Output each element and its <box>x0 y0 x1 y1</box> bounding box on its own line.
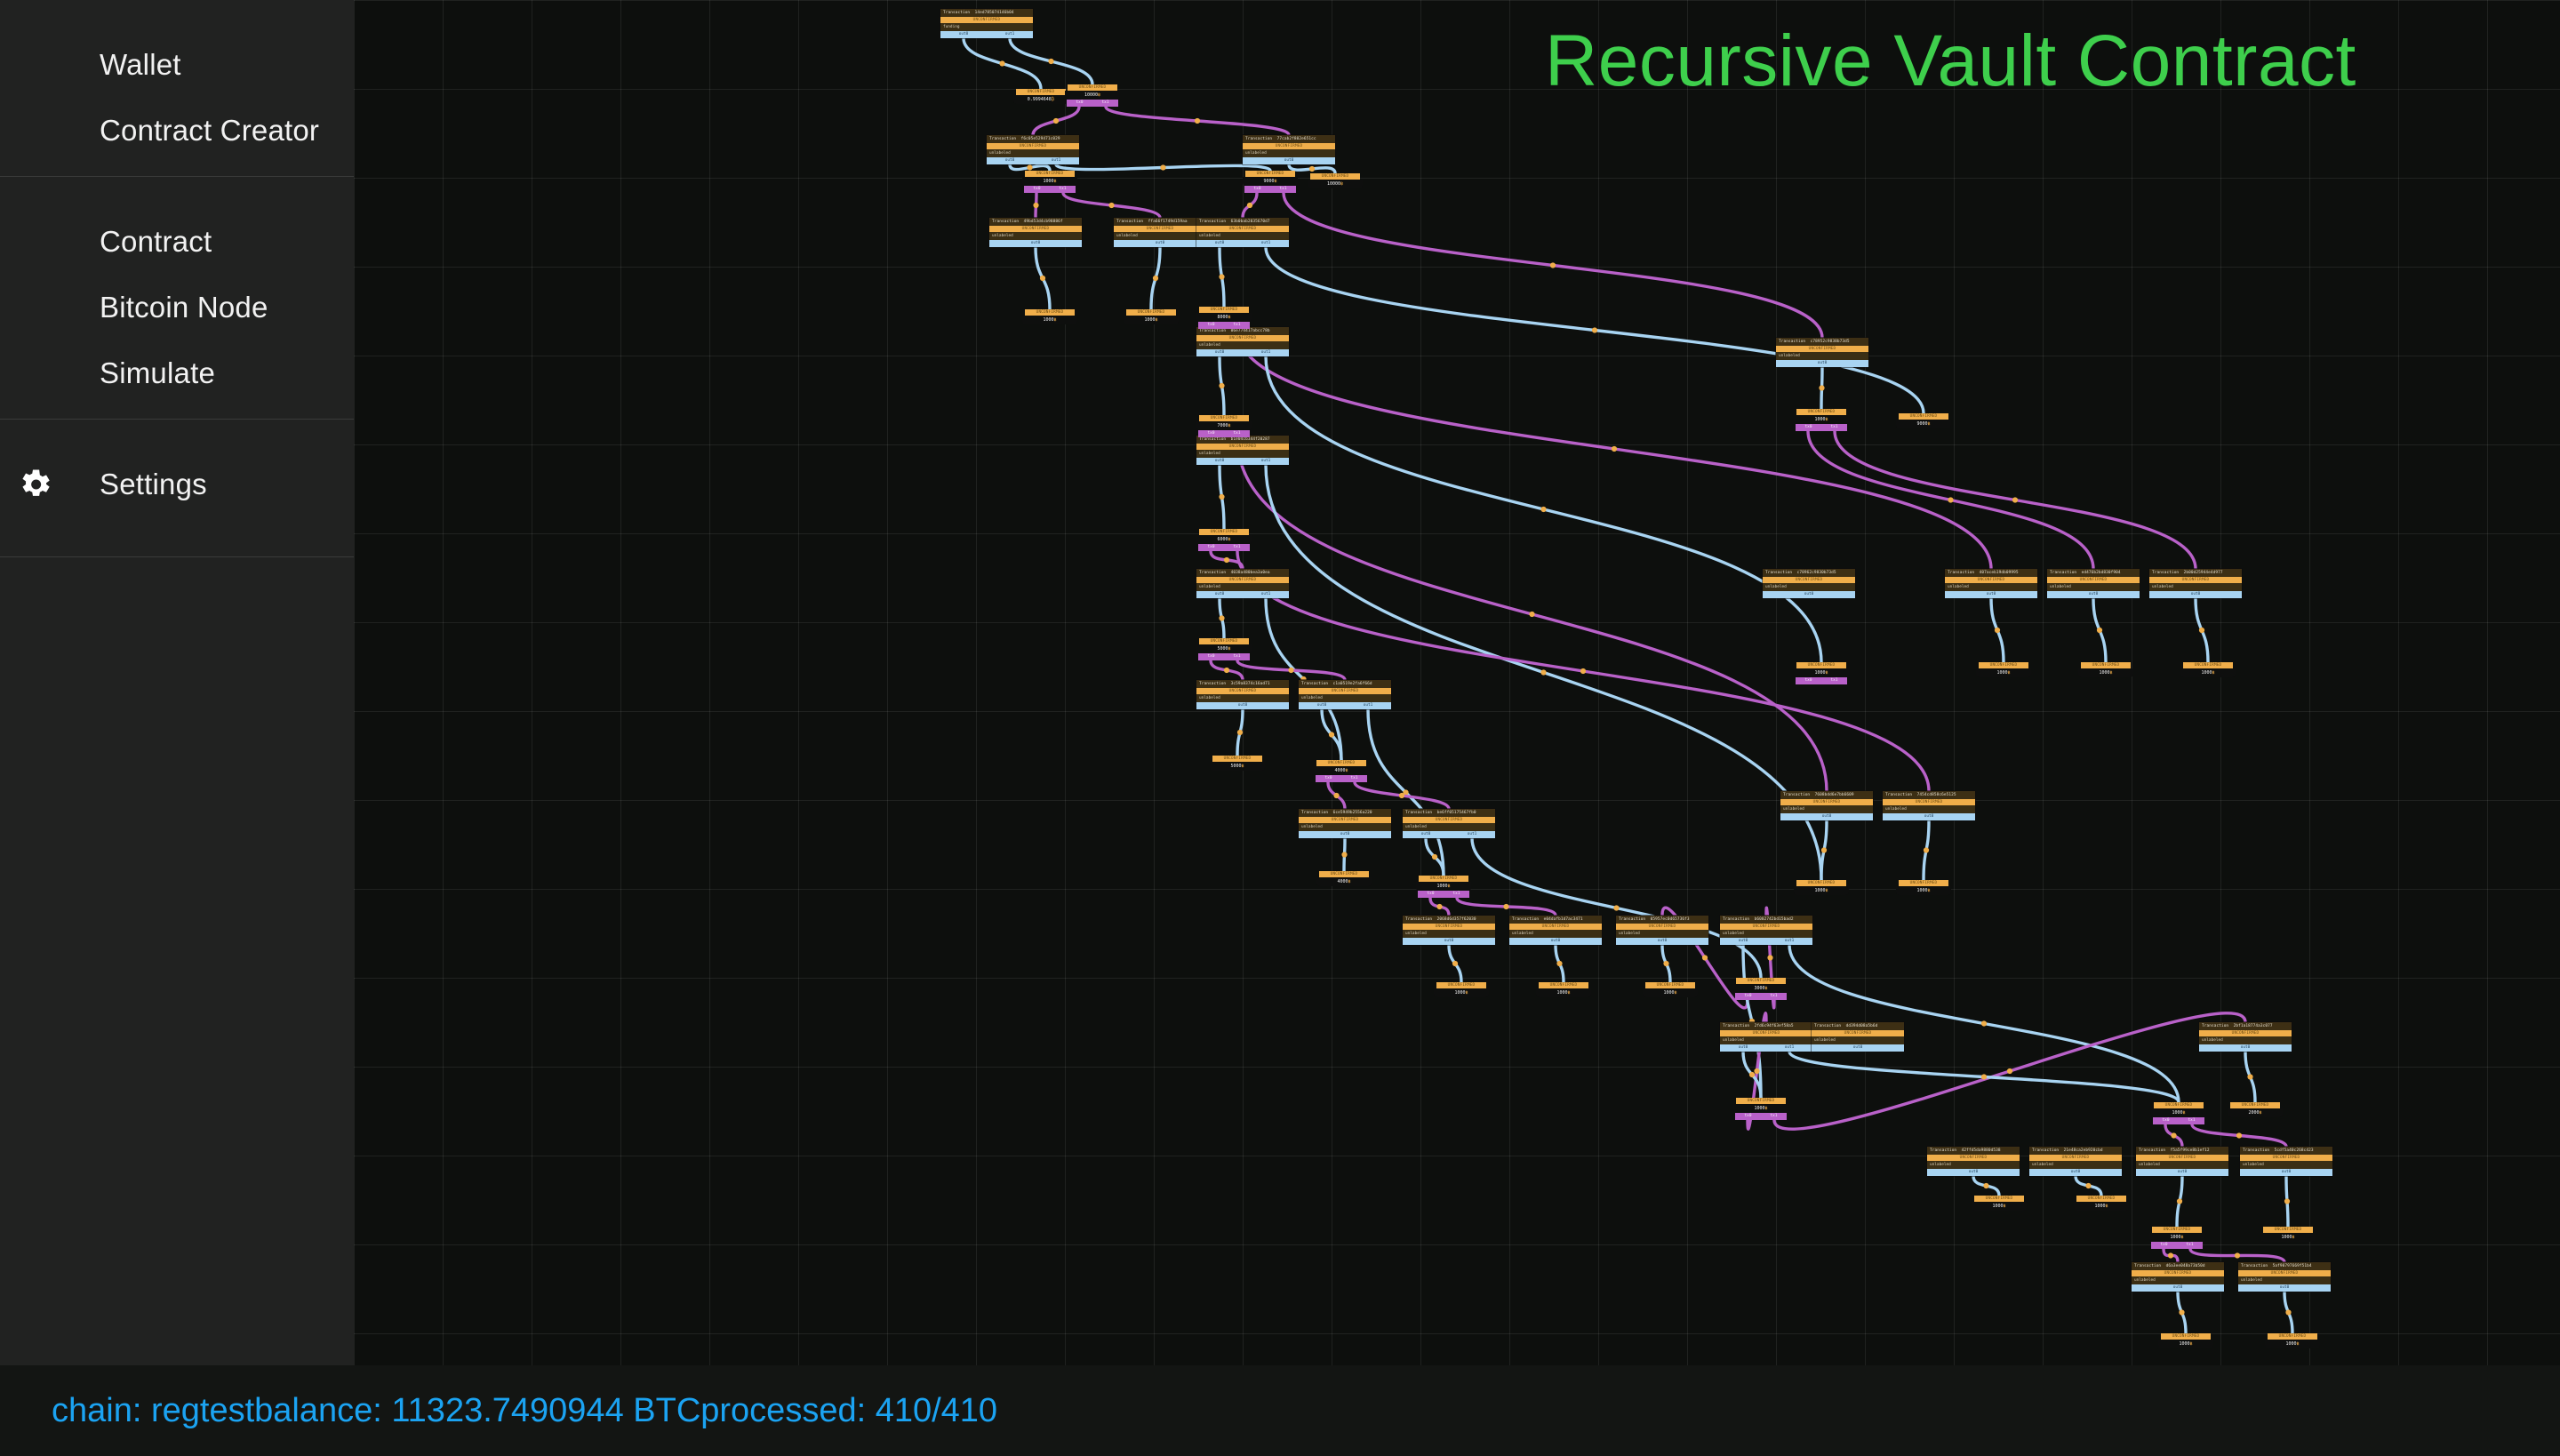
edge-handle-icon[interactable] <box>1924 847 1929 852</box>
transaction-label[interactable]: unlabeled <box>1299 694 1391 702</box>
tx-output-1[interactable]: out1 <box>1468 831 1477 838</box>
tx-output-0[interactable]: out0 <box>1853 1044 1863 1052</box>
utxo-tx-0[interactable]: tx0 <box>1208 544 1215 551</box>
utxo-tx-1[interactable]: tx1 <box>1234 544 1241 551</box>
utxo-node[interactable]: UNCONFIRMED1000฿ <box>2074 1196 2129 1211</box>
utxo-amount: 1000฿ <box>1022 316 1077 324</box>
transaction-node[interactable]: Transaction 7608bdd6e7bb6609UNCONFIRMEDu… <box>1780 791 1873 820</box>
transaction-node[interactable]: Transaction be6ff05175467fb0UNCONFIRMEDu… <box>1403 809 1495 838</box>
transaction-label[interactable]: unlabeled <box>2238 1276 2331 1284</box>
transaction-node[interactable]: Transaction 5cdf5a40c268c423UNCONFIRMEDu… <box>2240 1147 2332 1176</box>
edge-handle-icon[interactable] <box>1224 668 1229 673</box>
tx-output-0[interactable]: out0 <box>1924 813 1934 820</box>
edge-handle-icon[interactable] <box>1309 166 1315 172</box>
transaction-node[interactable]: Transaction 2fd6c94f63ef58a5UNCONFIRMEDu… <box>1720 1022 1812 1052</box>
transaction-outputs: out0 <box>2136 1169 2228 1176</box>
utxo-node[interactable]: UNCONFIRMED1000฿ <box>1794 880 1849 895</box>
utxo-tx-1[interactable]: tx1 <box>1771 1113 1778 1120</box>
transaction-label[interactable]: unlabeled <box>1616 930 1708 938</box>
tx-output-0[interactable]: out0 <box>1340 831 1350 838</box>
edge-handle-icon[interactable] <box>2007 1068 2012 1074</box>
edge-handle-icon[interactable] <box>1333 793 1339 798</box>
edge-handle-icon[interactable] <box>2177 1198 2182 1204</box>
edge-handle-icon[interactable] <box>999 60 1004 66</box>
utxo-node[interactable]: UNCONFIRMED4000฿ <box>1316 871 1372 886</box>
edge-handle-icon[interactable] <box>1288 668 1293 673</box>
transaction-label[interactable]: unlabeled <box>2199 1036 2292 1044</box>
utxo-spend-inputs: tx0tx1 <box>1418 891 1469 898</box>
edge-handle-icon[interactable] <box>1556 961 1562 966</box>
tx-output-0[interactable]: out0 <box>1421 831 1431 838</box>
edge-handle-icon[interactable] <box>2236 1132 2242 1138</box>
tx-output-0[interactable]: out0 <box>1987 591 1996 598</box>
edge-handle-icon[interactable] <box>1981 1020 1987 1026</box>
transaction-label[interactable]: unlabeled <box>1927 1161 2020 1169</box>
edge-handle-icon[interactable] <box>1027 164 1032 170</box>
transaction-label[interactable]: unlabeled <box>1196 583 1289 591</box>
sidebar-item-contract[interactable]: Contract <box>0 209 354 275</box>
utxo-node[interactable]: UNCONFIRMED1000฿tx0tx1 <box>1794 409 1849 431</box>
utxo-amount: 1000฿ <box>1434 988 1489 997</box>
utxo-spend-inputs: tx0tx1 <box>1796 677 1847 684</box>
edge-handle-icon[interactable] <box>2235 1252 2240 1258</box>
transaction-node[interactable]: Transaction 5af90797669f51b4UNCONFIRMEDu… <box>2238 1262 2331 1292</box>
utxo-node[interactable]: UNCONFIRMED1000฿ <box>2078 662 2133 677</box>
transaction-node[interactable]: Transaction c1a0519e2fa6f66dUNCONFIRMEDu… <box>1299 680 1391 709</box>
utxo-node[interactable]: UNCONFIRMED1000฿tx0tx1 <box>1733 1098 1788 1120</box>
utxo-node[interactable]: UNCONFIRMED6000฿tx0tx1 <box>1196 529 1252 551</box>
edge-handle-icon[interactable] <box>1219 615 1224 620</box>
edge-handle-icon[interactable] <box>1540 669 1546 675</box>
utxo-tx-0[interactable]: tx0 <box>1428 891 1435 898</box>
edge-handle-icon[interactable] <box>1033 203 1038 208</box>
transaction-hash: Transaction 2bf1a18774a3c077 <box>2199 1022 2292 1030</box>
tx-output-1[interactable]: out1 <box>1261 240 1271 247</box>
transaction-label[interactable]: unlabeled <box>1114 232 1206 240</box>
utxo-tx-1[interactable]: tx1 <box>2188 1117 2196 1124</box>
status-badge: UNCONFIRMED <box>1796 409 1846 415</box>
edge-handle-icon[interactable] <box>1399 793 1404 798</box>
utxo-node[interactable]: UNCONFIRMED1000฿tx0tx1 <box>1022 171 1077 193</box>
utxo-tx-0[interactable]: tx0 <box>1805 677 1812 684</box>
edge-handle-icon[interactable] <box>1612 446 1617 452</box>
edge-handle-icon[interactable] <box>1821 847 1827 852</box>
utxo-tx-1[interactable]: tx1 <box>1771 993 1778 1000</box>
tx-output-1[interactable]: out1 <box>1005 31 1015 38</box>
utxo-node[interactable]: UNCONFIRMED3000฿tx0tx1 <box>1733 978 1788 1000</box>
transaction-node[interactable]: Transaction 21e48ca2eb920cbdUNCONFIRMEDu… <box>2029 1147 2122 1176</box>
sidebar-item-wallet[interactable]: Wallet <box>0 32 354 98</box>
transaction-label[interactable]: unlabeled <box>1776 352 1868 360</box>
edge-handle-icon[interactable] <box>1749 1072 1755 1077</box>
edge-handle-icon[interactable] <box>2085 1183 2091 1188</box>
utxo-tx-0[interactable]: tx0 <box>1325 775 1332 782</box>
edge-handle-icon[interactable] <box>1219 494 1224 500</box>
utxo-node[interactable]: UNCONFIRMED1000฿ <box>1972 1196 2027 1211</box>
edge-handle-icon[interactable] <box>1767 955 1772 960</box>
edge-handle-icon[interactable] <box>1981 1074 1987 1079</box>
tx-output-0[interactable]: out0 <box>2071 1169 2081 1176</box>
utxo-node[interactable]: UNCONFIRMED1000฿ <box>2180 662 2236 677</box>
edge-handle-icon[interactable] <box>2199 628 2204 633</box>
utxo-node[interactable]: UNCONFIRMED1000฿tx0tx1 <box>2151 1102 2206 1124</box>
transaction-label[interactable]: unlabeled <box>989 232 1082 240</box>
currency-symbol: ฿ <box>2260 1110 2262 1116</box>
transaction-label[interactable]: unlabeled <box>1883 805 1975 813</box>
edge-handle-icon[interactable] <box>1195 118 1200 124</box>
utxo-node[interactable]: UNCONFIRMED1000฿ <box>2265 1333 2320 1348</box>
tx-output-0[interactable]: out0 <box>2191 591 2201 598</box>
tx-output-1[interactable]: out1 <box>1785 938 1795 945</box>
currency-symbol: ฿ <box>1928 888 1931 893</box>
utxo-node[interactable]: UNCONFIRMED1000฿ <box>1536 982 1591 997</box>
transaction-hash: Transaction 49bd53d4cb98886f <box>989 218 1082 226</box>
transaction-outputs: out0out1 <box>1299 702 1391 709</box>
tx-output-0[interactable]: out0 <box>1005 157 1015 164</box>
status-badge: UNCONFIRMED <box>1720 1030 1812 1036</box>
utxo-tx-1[interactable]: tx1 <box>1831 424 1838 431</box>
edge-handle-icon[interactable] <box>1040 276 1045 281</box>
utxo-tx-1[interactable]: tx1 <box>1234 430 1241 437</box>
tx-output-0[interactable]: out0 <box>1238 702 1248 709</box>
utxo-tx-0[interactable]: tx0 <box>1076 100 1084 107</box>
utxo-node[interactable]: UNCONFIRMED1000฿ <box>1434 982 1489 997</box>
utxo-amount: 1000฿ <box>1536 988 1591 997</box>
transaction-label[interactable]: unlabeled <box>2240 1161 2332 1169</box>
transaction-label[interactable]: unlabeled <box>987 149 1079 157</box>
transaction-node[interactable]: Transaction f5a5f99ce8b1ef12UNCONFIRMEDu… <box>2136 1147 2228 1176</box>
tx-output-1[interactable]: out1 <box>1052 157 1061 164</box>
transaction-hash: Transaction 42ffd5da9880d538 <box>1927 1147 2020 1155</box>
transaction-label[interactable]: unlabeled <box>1945 583 2037 591</box>
tx-output-0[interactable]: out0 <box>1551 938 1561 945</box>
edge-handle-icon[interactable] <box>2168 1252 2173 1258</box>
edge-handle-icon[interactable] <box>1224 557 1229 563</box>
edge-handle-icon[interactable] <box>1592 327 1597 332</box>
utxo-node[interactable]: UNCONFIRMED1000฿ <box>1643 982 1698 997</box>
transaction-outputs: out0out1 <box>1196 591 1289 598</box>
transaction-node[interactable]: Transaction 7454cd858c6e5125UNCONFIRMEDu… <box>1883 791 1975 820</box>
transaction-node[interactable]: Transaction b1e04c6344f20287UNCONFIRMEDu… <box>1196 436 1289 465</box>
utxo-node[interactable]: UNCONFIRMED8000฿tx0tx1 <box>1196 307 1252 329</box>
edge-handle-icon[interactable] <box>2097 628 2102 633</box>
utxo-tx-0[interactable]: tx0 <box>1208 430 1215 437</box>
transaction-node[interactable]: Transaction f6c05e529471c029UNCONFIRMEDu… <box>987 135 1079 164</box>
transaction-node[interactable]: Transaction 05957ec0d65736f3UNCONFIRMEDu… <box>1616 916 1708 945</box>
sidebar-item-bitcoin-node[interactable]: Bitcoin Node <box>0 275 354 340</box>
edge-handle-icon[interactable] <box>2012 497 2018 502</box>
transaction-node[interactable]: Transaction 2068d6d357f62030UNCONFIRMEDu… <box>1403 916 1495 945</box>
transaction-node[interactable]: Transaction c78962c9830b73d5UNCONFIRMEDu… <box>1763 569 1855 598</box>
utxo-node[interactable]: UNCONFIRMED0.9994648₿ <box>1013 89 1068 104</box>
utxo-node[interactable]: UNCONFIRMED1000฿ <box>2260 1227 2316 1242</box>
transaction-node[interactable]: Transaction c78952c9838b73d5UNCONFIRMEDu… <box>1776 338 1868 367</box>
edge-handle-icon[interactable] <box>1754 1068 1759 1074</box>
utxo-spend-inputs: tx0tx1 <box>1316 775 1367 782</box>
transaction-node[interactable]: Transaction 407aceb19db09995UNCONFIRMEDu… <box>1945 569 2037 598</box>
transaction-outputs: out0out1 <box>1720 1044 1812 1052</box>
edge-handle-icon[interactable] <box>1613 905 1619 910</box>
transaction-label[interactable]: unlabeled <box>1196 450 1289 458</box>
tx-output-0[interactable]: out0 <box>1156 240 1165 247</box>
edge-handle-icon[interactable] <box>1432 854 1437 860</box>
currency-symbol: ฿ <box>2110 670 2113 676</box>
transaction-label[interactable]: unlabeled <box>2132 1276 2224 1284</box>
tx-output-0[interactable]: out0 <box>2280 1284 2290 1292</box>
transaction-label[interactable]: unlabeled <box>1196 341 1289 349</box>
graph-canvas[interactable]: Recursive Vault Contract Transaction 14e… <box>354 0 2560 1365</box>
tx-output-1[interactable]: out1 <box>1261 591 1271 598</box>
transaction-node[interactable]: Transaction e04dafb1d7ac3471UNCONFIRMEDu… <box>1509 916 1602 945</box>
tx-output-0[interactable]: out0 <box>1739 1044 1748 1052</box>
utxo-amount: 1000฿ <box>2074 1202 2129 1211</box>
edge-handle-icon[interactable] <box>1053 118 1059 124</box>
edge-handle-icon[interactable] <box>1948 497 1953 502</box>
tx-output-0[interactable]: out0 <box>1739 938 1748 945</box>
edge-handle-icon[interactable] <box>1663 961 1668 966</box>
transaction-outputs: out0 <box>1403 938 1495 945</box>
edge-handle-icon[interactable] <box>1153 276 1158 281</box>
currency-symbol: ฿ <box>1765 1106 1768 1111</box>
currency-symbol: ฿ <box>1765 986 1768 991</box>
tx-output-0[interactable]: out0 <box>2173 1284 2183 1292</box>
status-badge: UNCONFIRMED <box>1196 577 1289 583</box>
transaction-node[interactable]: Transaction 14ed785074146b04UNCONFIRMEDf… <box>940 9 1033 38</box>
tx-output-0[interactable]: out0 <box>1822 813 1832 820</box>
transaction-node[interactable]: Transaction 42ffd5da9880d538UNCONFIRMEDu… <box>1927 1147 2020 1176</box>
transaction-node[interactable]: Transaction 6ce5949b2556a220UNCONFIRMEDu… <box>1299 809 1391 838</box>
edge-handle-icon[interactable] <box>1529 612 1534 617</box>
transaction-label[interactable]: funding <box>940 23 1033 31</box>
transaction-hash: Transaction c1a0519e2fa6f66d <box>1299 680 1391 688</box>
tx-output-1[interactable]: out1 <box>1261 349 1271 356</box>
utxo-node[interactable]: UNCONFIRMED1000฿ <box>2158 1333 2213 1348</box>
app-root: Wallet Contract Creator Contract Bitcoin… <box>0 0 2560 1456</box>
edge-handle-icon[interactable] <box>1237 730 1243 735</box>
utxo-tx-0[interactable]: tx0 <box>1745 993 1752 1000</box>
transaction-label[interactable]: unlabeled <box>1243 149 1335 157</box>
tx-output-0[interactable]: out0 <box>2282 1169 2292 1176</box>
edge-handle-icon[interactable] <box>1580 668 1586 674</box>
transaction-label[interactable]: unlabeled <box>1196 694 1289 702</box>
tx-output-0[interactable]: out0 <box>2178 1169 2188 1176</box>
utxo-tx-1[interactable]: tx1 <box>1060 186 1067 193</box>
transaction-node[interactable]: Transaction ed476b2bd830f904UNCONFIRMEDu… <box>2047 569 2140 598</box>
utxo-tx-0[interactable]: tx0 <box>1208 653 1215 660</box>
tx-output-0[interactable]: out0 <box>1658 938 1668 945</box>
utxo-node[interactable]: UNCONFIRMED1000฿ <box>1976 662 2031 677</box>
transaction-label[interactable]: unlabeled <box>1403 823 1495 831</box>
edge-handle-icon[interactable] <box>1108 203 1114 208</box>
transaction-label[interactable]: unlabeled <box>1720 930 1812 938</box>
transaction-label[interactable]: unlabeled <box>2136 1161 2228 1169</box>
edge-handle-icon[interactable] <box>1702 955 1708 960</box>
tx-output-0[interactable]: out0 <box>1818 360 1828 367</box>
transaction-label[interactable]: unlabeled <box>1196 232 1289 240</box>
tx-output-0[interactable]: out0 <box>1969 1169 1979 1176</box>
transaction-label[interactable]: unlabeled <box>1812 1036 1904 1044</box>
status-badge: UNCONFIRMED <box>1509 924 1602 930</box>
utxo-node[interactable]: UNCONFIRMED1000฿ <box>1022 309 1077 324</box>
utxo-node[interactable]: UNCONFIRMED1000฿ <box>1896 880 1951 895</box>
transaction-node[interactable]: Transaction d6a3ee048a73b50dUNCONFIRMEDu… <box>2132 1262 2224 1292</box>
tx-output-0[interactable]: out0 <box>1444 938 1454 945</box>
transaction-label[interactable]: unlabeled <box>1509 930 1602 938</box>
edge-handle-icon[interactable] <box>1160 164 1165 170</box>
tx-output-1[interactable]: out1 <box>1261 458 1271 465</box>
transaction-node[interactable]: Transaction b6002742bd15bad2UNCONFIRMEDu… <box>1720 916 1812 945</box>
transaction-label[interactable]: unlabeled <box>1299 823 1391 831</box>
transaction-node[interactable]: Transaction 63b0bab2035670d7UNCONFIRMEDu… <box>1196 218 1289 247</box>
utxo-node[interactable]: UNCONFIRMED5000฿ <box>1210 756 1265 771</box>
tx-output-0[interactable]: out0 <box>1215 349 1225 356</box>
transaction-node[interactable]: Transaction 49bd53d4cb98886fUNCONFIRMEDu… <box>989 218 1082 247</box>
tx-output-1[interactable]: out1 <box>1785 1044 1795 1052</box>
utxo-node[interactable]: UNCONFIRMED9000฿tx0tx1 <box>1243 171 1298 193</box>
transaction-label[interactable]: unlabeled <box>1720 1036 1812 1044</box>
tx-output-0[interactable]: out0 <box>1215 458 1225 465</box>
edge-handle-icon[interactable] <box>1540 507 1546 512</box>
transaction-node[interactable]: Transaction 2bf1a18774a3c077UNCONFIRMEDu… <box>2199 1022 2292 1052</box>
transaction-outputs: out0 <box>1812 1044 1904 1052</box>
utxo-tx-1[interactable]: tx1 <box>1102 100 1109 107</box>
tx-output-1[interactable]: out1 <box>1364 702 1373 709</box>
utxo-tx-0[interactable]: tx0 <box>2161 1242 2168 1249</box>
transaction-node[interactable]: Transaction ffa66f1749d159aaUNCONFIRMEDu… <box>1114 218 1206 247</box>
utxo-tx-1[interactable]: tx1 <box>2187 1242 2194 1249</box>
transaction-node[interactable]: Transaction 2b00d25944e4d977UNCONFIRMEDu… <box>2149 569 2242 598</box>
status-badge: UNCONFIRMED <box>2152 1227 2202 1233</box>
tx-output-0[interactable]: out0 <box>2241 1044 2251 1052</box>
sidebar-item-settings[interactable]: Settings <box>0 452 354 517</box>
utxo-tx-0[interactable]: tx0 <box>1034 186 1041 193</box>
currency-symbol: ฿ <box>2212 670 2215 676</box>
tx-output-0[interactable]: out0 <box>1317 702 1327 709</box>
transaction-hash: Transaction c78962c9830b73d5 <box>1763 569 1855 577</box>
edge-handle-icon[interactable] <box>1995 628 2000 633</box>
edge-handle-icon[interactable] <box>1503 904 1508 909</box>
transaction-node[interactable]: Transaction 77cab2f802e651ccUNCONFIRMEDu… <box>1243 135 1335 164</box>
transaction-node[interactable]: Transaction 4038a480bea3a0eaUNCONFIRMEDu… <box>1196 569 1289 598</box>
edge-handle-icon[interactable] <box>2285 1309 2291 1315</box>
transaction-hash: Transaction be6ff05175467fb0 <box>1403 809 1495 817</box>
tx-output-0[interactable]: out0 <box>1215 591 1225 598</box>
sidebar-item-simulate[interactable]: Simulate <box>0 340 354 406</box>
transaction-node[interactable]: Transaction 06e774417abcc78bUNCONFIRMEDu… <box>1196 327 1289 356</box>
transaction-label[interactable]: unlabeled <box>1780 805 1873 813</box>
utxo-node[interactable]: UNCONFIRMED1000฿tx0tx1 <box>1794 662 1849 684</box>
utxo-node[interactable]: UNCONFIRMED2000฿ <box>2228 1102 2283 1117</box>
transaction-outputs: out0out1 <box>940 31 1033 38</box>
edge-handle-icon[interactable] <box>1219 274 1224 279</box>
transaction-label[interactable]: unlabeled <box>2029 1161 2122 1169</box>
utxo-node[interactable]: UNCONFIRMED10000฿ <box>1308 173 1363 188</box>
currency-symbol: ฿ <box>2190 1341 2193 1347</box>
tx-output-0[interactable]: out0 <box>1031 240 1041 247</box>
edge-handle-icon[interactable] <box>1436 904 1442 909</box>
transaction-label[interactable]: unlabeled <box>1403 930 1495 938</box>
transaction-hash: Transaction 7608bdd6e7bb6609 <box>1780 791 1873 799</box>
utxo-tx-0[interactable]: tx0 <box>2163 1117 2170 1124</box>
utxo-tx-0[interactable]: tx0 <box>1254 186 1261 193</box>
edge-handle-icon[interactable] <box>1048 59 1053 64</box>
status-badge: UNCONFIRMED <box>1979 662 2028 668</box>
utxo-node[interactable]: UNCONFIRMED1000฿ <box>1124 309 1179 324</box>
utxo-amount: 8000฿ <box>1196 313 1252 322</box>
status-badge: UNCONFIRMED <box>2238 1270 2331 1276</box>
utxo-amount: 1000฿ <box>2151 1108 2206 1117</box>
status-badge: UNCONFIRMED <box>1126 309 1176 316</box>
utxo-amount: 1000฿ <box>1794 415 1849 424</box>
utxo-node[interactable]: UNCONFIRMED10000฿tx0tx1 <box>1065 84 1120 107</box>
utxo-tx-0[interactable]: tx0 <box>1745 1113 1752 1120</box>
edge-handle-icon[interactable] <box>1329 732 1334 737</box>
utxo-tx-1[interactable]: tx1 <box>1280 186 1287 193</box>
tx-output-0[interactable]: out0 <box>1215 240 1225 247</box>
edge-handle-icon[interactable] <box>1819 385 1824 390</box>
utxo-tx-0[interactable]: tx0 <box>1805 424 1812 431</box>
transaction-label[interactable]: unlabeled <box>2149 583 2242 591</box>
utxo-amount: 1000฿ <box>1416 882 1471 891</box>
utxo-tx-1[interactable]: tx1 <box>1351 775 1358 782</box>
utxo-tx-1[interactable]: tx1 <box>1453 891 1460 898</box>
transaction-label[interactable]: unlabeled <box>2047 583 2140 591</box>
status-badge: UNCONFIRMED <box>1763 577 1855 583</box>
currency-symbol: ฿ <box>1826 888 1828 893</box>
status-badge: UNCONFIRMED <box>2047 577 2140 583</box>
edge-handle-icon[interactable] <box>1341 852 1347 857</box>
edge-handle-icon[interactable] <box>1219 383 1224 388</box>
edge-handle-icon[interactable] <box>1452 961 1458 966</box>
edge-handle-icon[interactable] <box>1247 203 1252 208</box>
utxo-node[interactable]: UNCONFIRMED1000฿tx0tx1 <box>2149 1227 2204 1249</box>
status-badge: UNCONFIRMED <box>1199 638 1249 644</box>
transaction-label[interactable]: unlabeled <box>1763 583 1855 591</box>
utxo-node[interactable]: UNCONFIRMED4000฿tx0tx1 <box>1314 760 1369 782</box>
utxo-node[interactable]: UNCONFIRMED5000฿tx0tx1 <box>1196 638 1252 660</box>
utxo-tx-0[interactable]: tx0 <box>1208 322 1215 329</box>
tx-output-0[interactable]: out0 <box>2089 591 2099 598</box>
utxo-tx-1[interactable]: tx1 <box>1831 677 1838 684</box>
transaction-node[interactable]: Transaction dd394d08a5b6dUNCONFIRMEDunla… <box>1812 1022 1904 1052</box>
transaction-node[interactable]: Transaction 3c59a8374c16ad71UNCONFIRMEDu… <box>1196 680 1289 709</box>
edge-handle-icon[interactable] <box>1550 262 1556 268</box>
edge-handle-icon[interactable] <box>2179 1309 2184 1315</box>
edge-handle-icon[interactable] <box>2171 1132 2176 1138</box>
tx-output-0[interactable]: out0 <box>959 31 969 38</box>
transaction-hash: Transaction 5af90797669f51b4 <box>2238 1262 2331 1270</box>
utxo-tx-1[interactable]: tx1 <box>1234 322 1241 329</box>
transaction-outputs: out0 <box>989 240 1082 247</box>
tx-output-0[interactable]: out0 <box>1804 591 1814 598</box>
utxo-amount: 9000฿ <box>1896 420 1951 428</box>
utxo-tx-1[interactable]: tx1 <box>1234 653 1241 660</box>
transaction-hash: Transaction dd394d08a5b6d <box>1812 1022 1904 1030</box>
tx-output-0[interactable]: out0 <box>1284 157 1294 164</box>
edge-handle-icon[interactable] <box>2247 1074 2252 1079</box>
utxo-node[interactable]: UNCONFIRMED1000฿tx0tx1 <box>1416 876 1471 898</box>
utxo-node[interactable]: UNCONFIRMED9000฿ <box>1896 413 1951 428</box>
status-badge: UNCONFIRMED <box>2268 1333 2317 1340</box>
utxo-spend-inputs: tx0tx1 <box>2153 1117 2204 1124</box>
currency-symbol: ฿ <box>2181 1235 2184 1240</box>
transaction-outputs: out0 <box>1927 1169 2020 1176</box>
edge-handle-icon[interactable] <box>2284 1198 2290 1204</box>
sidebar-item-contract-creator[interactable]: Contract Creator <box>0 98 354 164</box>
edge-handle-icon[interactable] <box>1983 1183 1988 1188</box>
utxo-node[interactable]: UNCONFIRMED7000฿tx0tx1 <box>1196 415 1252 437</box>
transaction-outputs: out0 <box>1883 813 1975 820</box>
